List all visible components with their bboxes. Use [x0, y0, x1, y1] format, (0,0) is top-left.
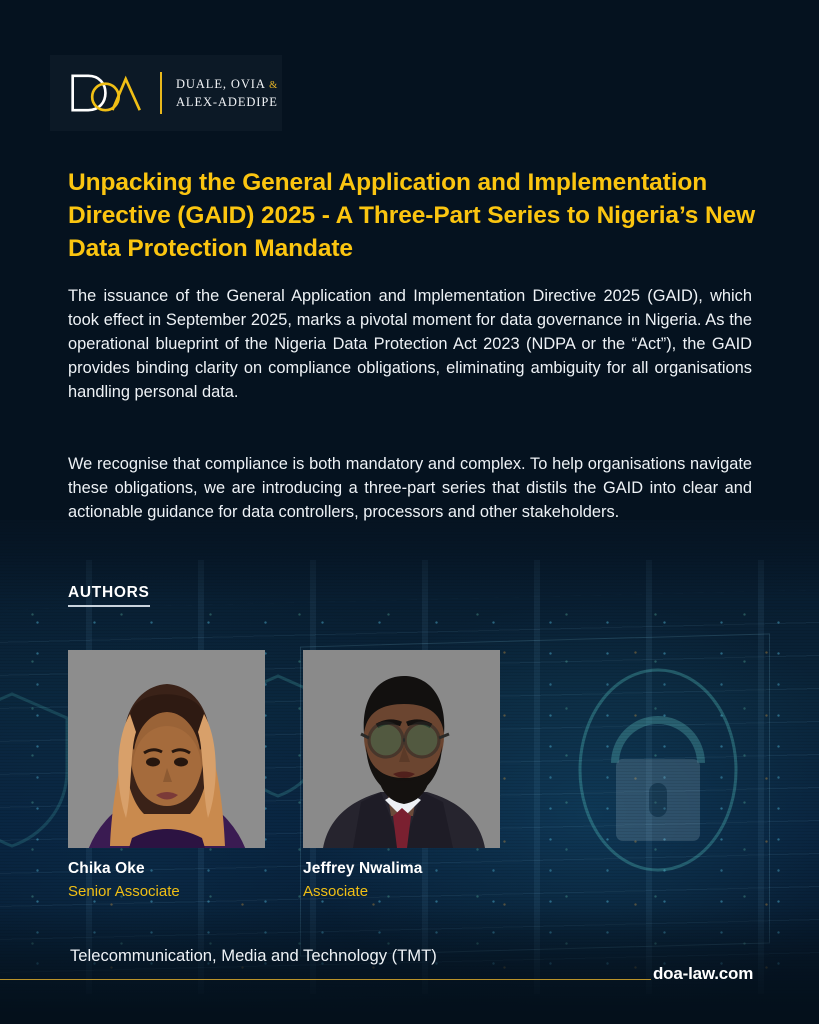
- authors-list: Chika Oke Senior Associate: [68, 650, 500, 900]
- brand-name-line-1: DUALE, OVIA &: [176, 76, 278, 94]
- article-poster: DUALE, OVIA & ALEX-ADEDIPE Unpacking the…: [0, 0, 819, 1024]
- padlock-icon: [553, 655, 763, 890]
- doa-monogram-logo-icon: [68, 71, 146, 115]
- body-paragraph-2: We recognise that compliance is both man…: [68, 452, 752, 524]
- practice-area-label: Telecommunication, Media and Technology …: [70, 946, 437, 966]
- brand-name-line-2: ALEX-ADEDIPE: [176, 94, 278, 110]
- footer-divider: [0, 979, 651, 980]
- avatar: [68, 650, 265, 848]
- author-card: Jeffrey Nwalima Associate: [303, 650, 500, 900]
- brand-name: DUALE, OVIA & ALEX-ADEDIPE: [176, 76, 278, 110]
- shield-icon-edge: [0, 690, 72, 855]
- authors-heading: AUTHORS: [68, 584, 150, 607]
- brand-logo[interactable]: DUALE, OVIA & ALEX-ADEDIPE: [50, 55, 282, 131]
- author-role: Associate: [303, 883, 500, 900]
- author-card: Chika Oke Senior Associate: [68, 650, 265, 900]
- body-paragraph-1: The issuance of the General Application …: [68, 284, 752, 404]
- author-name: Jeffrey Nwalima: [303, 860, 500, 878]
- author-name: Chika Oke: [68, 860, 265, 878]
- ampersand-glyph: &: [269, 80, 278, 91]
- author-role: Senior Associate: [68, 883, 265, 900]
- page-title: Unpacking the General Application and Im…: [68, 166, 758, 265]
- avatar: [303, 650, 500, 848]
- website-url[interactable]: doa-law.com: [653, 964, 753, 984]
- logo-divider: [160, 72, 162, 114]
